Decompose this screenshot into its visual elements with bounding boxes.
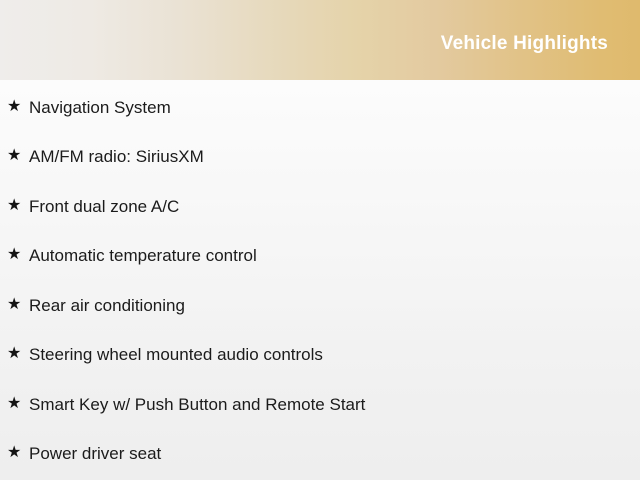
star-bullet-icon: ★ — [7, 445, 29, 461]
list-item-label: Front dual zone A/C — [29, 198, 179, 215]
star-bullet-icon: ★ — [7, 346, 29, 362]
list-item-label: Navigation System — [29, 99, 171, 116]
star-bullet-icon: ★ — [7, 396, 29, 412]
list-item-label: Rear air conditioning — [29, 297, 185, 314]
list-item: ★Power driver seat — [0, 441, 640, 467]
vehicle-highlights-list: ★Navigation System★AM/FM radio: SiriusXM… — [0, 80, 640, 480]
list-item: ★Automatic temperature control — [0, 243, 640, 269]
list-item-label: Smart Key w/ Push Button and Remote Star… — [29, 396, 365, 413]
list-item-label: Power driver seat — [29, 445, 161, 462]
star-bullet-icon: ★ — [7, 99, 29, 115]
star-bullet-icon: ★ — [7, 198, 29, 214]
list-item: ★Steering wheel mounted audio controls — [0, 342, 640, 368]
page-header-banner: Vehicle Highlights — [0, 0, 640, 80]
list-item: ★Navigation System — [0, 94, 640, 120]
list-item: ★Front dual zone A/C — [0, 193, 640, 219]
list-item: ★AM/FM radio: SiriusXM — [0, 144, 640, 170]
vehicle-highlights-page: Vehicle Highlights ★Navigation System★AM… — [0, 0, 640, 480]
list-item-label: Steering wheel mounted audio controls — [29, 346, 323, 363]
star-bullet-icon: ★ — [7, 247, 29, 263]
list-item: ★Rear air conditioning — [0, 292, 640, 318]
star-bullet-icon: ★ — [7, 148, 29, 164]
list-item: ★Smart Key w/ Push Button and Remote Sta… — [0, 391, 640, 417]
list-item-label: AM/FM radio: SiriusXM — [29, 148, 204, 165]
page-title: Vehicle Highlights — [441, 34, 608, 53]
star-bullet-icon: ★ — [7, 297, 29, 313]
list-item-label: Automatic temperature control — [29, 247, 257, 264]
